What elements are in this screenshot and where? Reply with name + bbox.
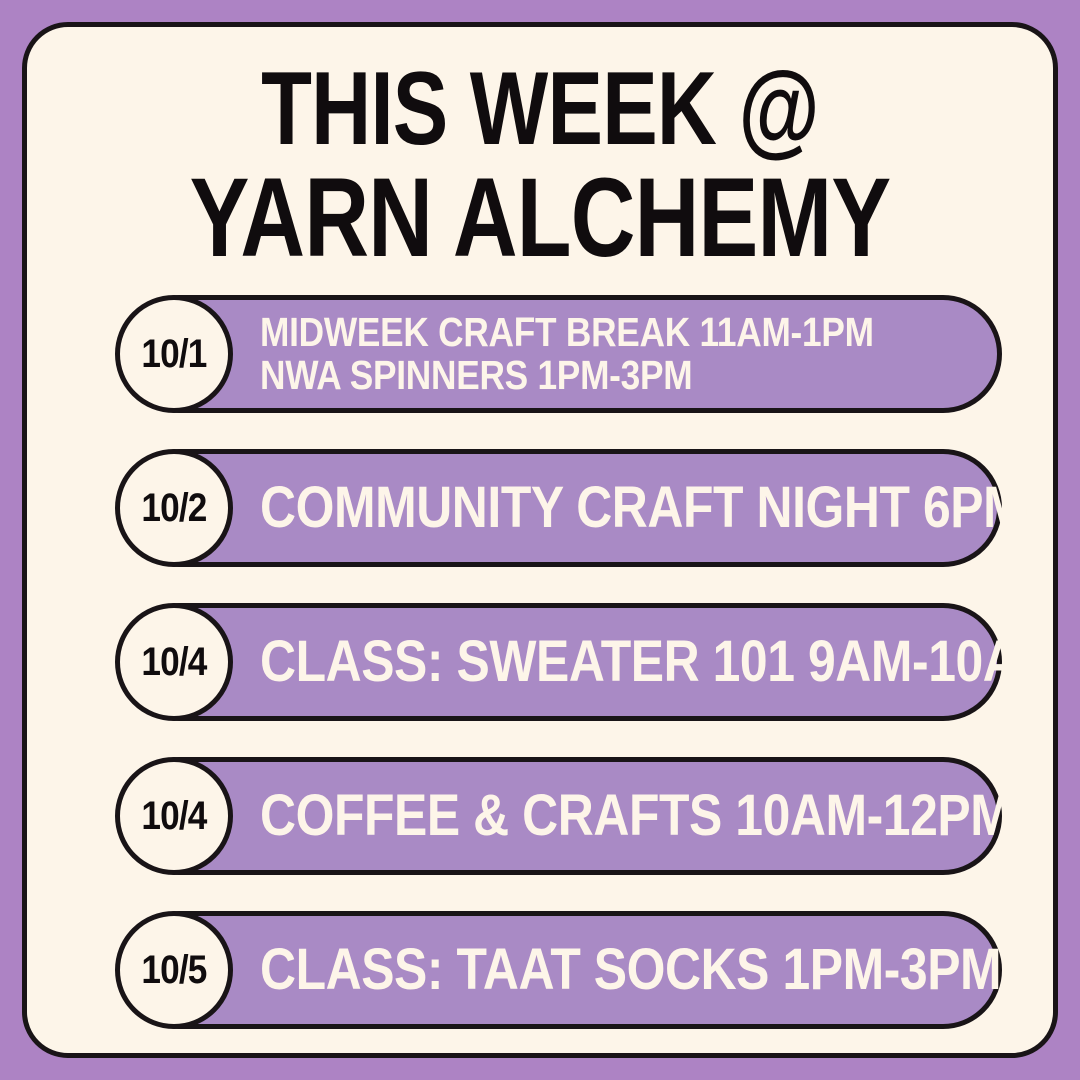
date-badge: 10/1 — [115, 295, 233, 413]
event-pill[interactable]: COMMUNITY CRAFT NIGHT 6PM-8PM — [120, 449, 1002, 567]
event-pill[interactable]: CLASS: TAAT SOCKS 1PM-3PM — [120, 911, 1002, 1029]
event-pill[interactable]: CLASS: SWEATER 101 9AM-10AM — [120, 603, 1002, 721]
event-text: CLASS: SWEATER 101 9AM-10AM — [260, 631, 1058, 692]
date-badge-label: 10/4 — [141, 794, 206, 839]
date-badge-label: 10/1 — [141, 332, 206, 377]
event-pill[interactable]: COFFEE & CRAFTS 10AM-12PM — [120, 757, 1002, 875]
list-item[interactable]: COMMUNITY CRAFT NIGHT 6PM-8PM 10/2 — [27, 449, 1053, 567]
list-item[interactable]: COFFEE & CRAFTS 10AM-12PM 10/4 — [27, 757, 1053, 875]
event-line: COFFEE & CRAFTS 10AM-12PM — [260, 785, 1011, 846]
list-item[interactable]: MIDWEEK CRAFT BREAK 11AM-1PM NWA SPINNER… — [27, 295, 1053, 413]
event-line: CLASS: SWEATER 101 9AM-10AM — [260, 631, 1058, 692]
event-text: MIDWEEK CRAFT BREAK 11AM-1PM NWA SPINNER… — [260, 311, 894, 398]
event-line: CLASS: TAAT SOCKS 1PM-3PM — [260, 939, 1001, 1000]
event-poster-card: THIS WEEK @ YARN ALCHEMY MIDWEEK CRAFT B… — [22, 22, 1058, 1058]
event-line: COMMUNITY CRAFT NIGHT 6PM-8PM — [260, 477, 1058, 538]
event-list: MIDWEEK CRAFT BREAK 11AM-1PM NWA SPINNER… — [27, 295, 1053, 1058]
date-badge-label: 10/5 — [141, 948, 206, 993]
date-badge-label: 10/4 — [141, 640, 206, 685]
event-pill[interactable]: MIDWEEK CRAFT BREAK 11AM-1PM NWA SPINNER… — [120, 295, 1002, 413]
event-line: MIDWEEK CRAFT BREAK 11AM-1PM — [260, 311, 874, 354]
title-line-1: THIS WEEK @ — [130, 59, 951, 161]
event-line: NWA SPINNERS 1PM-3PM — [260, 354, 874, 397]
list-item[interactable]: CLASS: TAAT SOCKS 1PM-3PM 10/5 — [27, 911, 1053, 1029]
date-badge: 10/4 — [115, 757, 233, 875]
date-badge-label: 10/2 — [141, 486, 206, 531]
date-badge: 10/4 — [115, 603, 233, 721]
list-item[interactable]: CLASS: SWEATER 101 9AM-10AM 10/4 — [27, 603, 1053, 721]
date-badge: 10/5 — [115, 911, 233, 1029]
event-text: CLASS: TAAT SOCKS 1PM-3PM — [260, 939, 1022, 1000]
event-text: COMMUNITY CRAFT NIGHT 6PM-8PM — [260, 477, 1058, 538]
event-text: COFFEE & CRAFTS 10AM-12PM — [260, 785, 1032, 846]
page-title: THIS WEEK @ YARN ALCHEMY — [27, 59, 1053, 273]
title-line-2: YARN ALCHEMY — [130, 163, 951, 273]
date-badge: 10/2 — [115, 449, 233, 567]
